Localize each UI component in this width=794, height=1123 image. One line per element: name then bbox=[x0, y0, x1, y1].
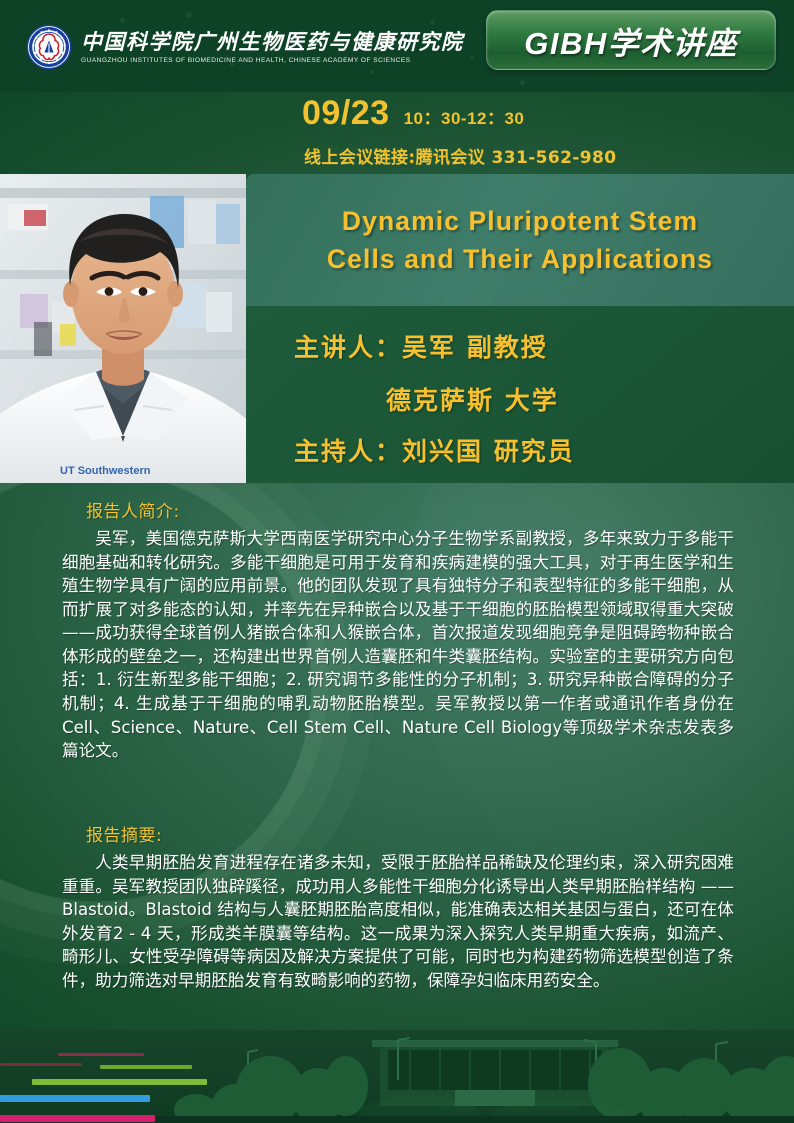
speaker-name-line: 主讲人：吴军 副教授 bbox=[294, 328, 548, 364]
header-bar: GIBH 中国科学院广州生物医药与健康研究院 GUANGZHOU INSTITU… bbox=[0, 0, 794, 92]
svg-text:GIBH: GIBH bbox=[44, 63, 54, 67]
event-meta: 09/23 10：30-12：30 线上会议链接:腾讯会议 331-562-98… bbox=[250, 96, 770, 172]
meeting-link: 线上会议链接:腾讯会议 331-562-980 bbox=[250, 143, 770, 168]
institute-logo: GIBH 中国科学院广州生物医药与健康研究院 GUANGZHOU INSTITU… bbox=[26, 24, 464, 70]
lecture-title-line2: Cells and Their Applications bbox=[327, 244, 713, 275]
poster-root: GIBH 中国科学院广州生物医药与健康研究院 GUANGZHOU INSTITU… bbox=[0, 0, 794, 1123]
lecture-series-badge: GIBH学术讲座 bbox=[486, 10, 776, 70]
event-date: 09/23 bbox=[302, 96, 390, 130]
speaker-info: 主讲人：吴军 副教授 德克萨斯 大学 主持人：刘兴国 研究员 bbox=[246, 306, 794, 483]
lecture-series-badge-label: GIBH学术讲座 bbox=[524, 18, 738, 63]
event-date-row: 09/23 10：30-12：30 bbox=[250, 96, 770, 130]
svg-text:UT Southwestern: UT Southwestern bbox=[60, 465, 151, 477]
bio-paragraph: 吴军，美国德克萨斯大学西南医学研究中心分子生物学系副教授，多年来致力于多能干细胞… bbox=[62, 527, 734, 763]
speaker-portrait: UT Southwestern bbox=[0, 174, 246, 483]
lecture-title-line1: Dynamic Pluripotent Stem bbox=[342, 206, 698, 237]
event-time: 10：30-12：30 bbox=[404, 104, 525, 129]
cas-gibh-emblem-icon: GIBH bbox=[26, 24, 72, 70]
speaker-affiliation-line: 德克萨斯 大学 bbox=[386, 381, 559, 417]
abstract-paragraph: 人类早期胚胎发育进程存在诸多未知，受限于胚胎样品稀缺及伦理约束，深入研究困难重重… bbox=[62, 851, 734, 992]
color-bar-decoration bbox=[0, 1047, 420, 1117]
abstract-heading: 报告摘要: bbox=[86, 821, 162, 846]
logo-chinese-name: 中国科学院广州生物医药与健康研究院 bbox=[81, 30, 464, 54]
content-area: 报告人简介: 吴军，美国德克萨斯大学西南医学研究中心分子生物学系副教授，多年来致… bbox=[0, 483, 794, 1043]
footer-strip bbox=[0, 1030, 794, 1123]
lecture-title: Dynamic Pluripotent Stem Cells and Their… bbox=[246, 174, 794, 306]
host-name-line: 主持人：刘兴国 研究员 bbox=[294, 432, 575, 468]
logo-english-name: GUANGZHOU INSTITUTES OF BIOMEDICINE AND … bbox=[81, 57, 464, 64]
bio-heading: 报告人简介: bbox=[86, 497, 180, 522]
